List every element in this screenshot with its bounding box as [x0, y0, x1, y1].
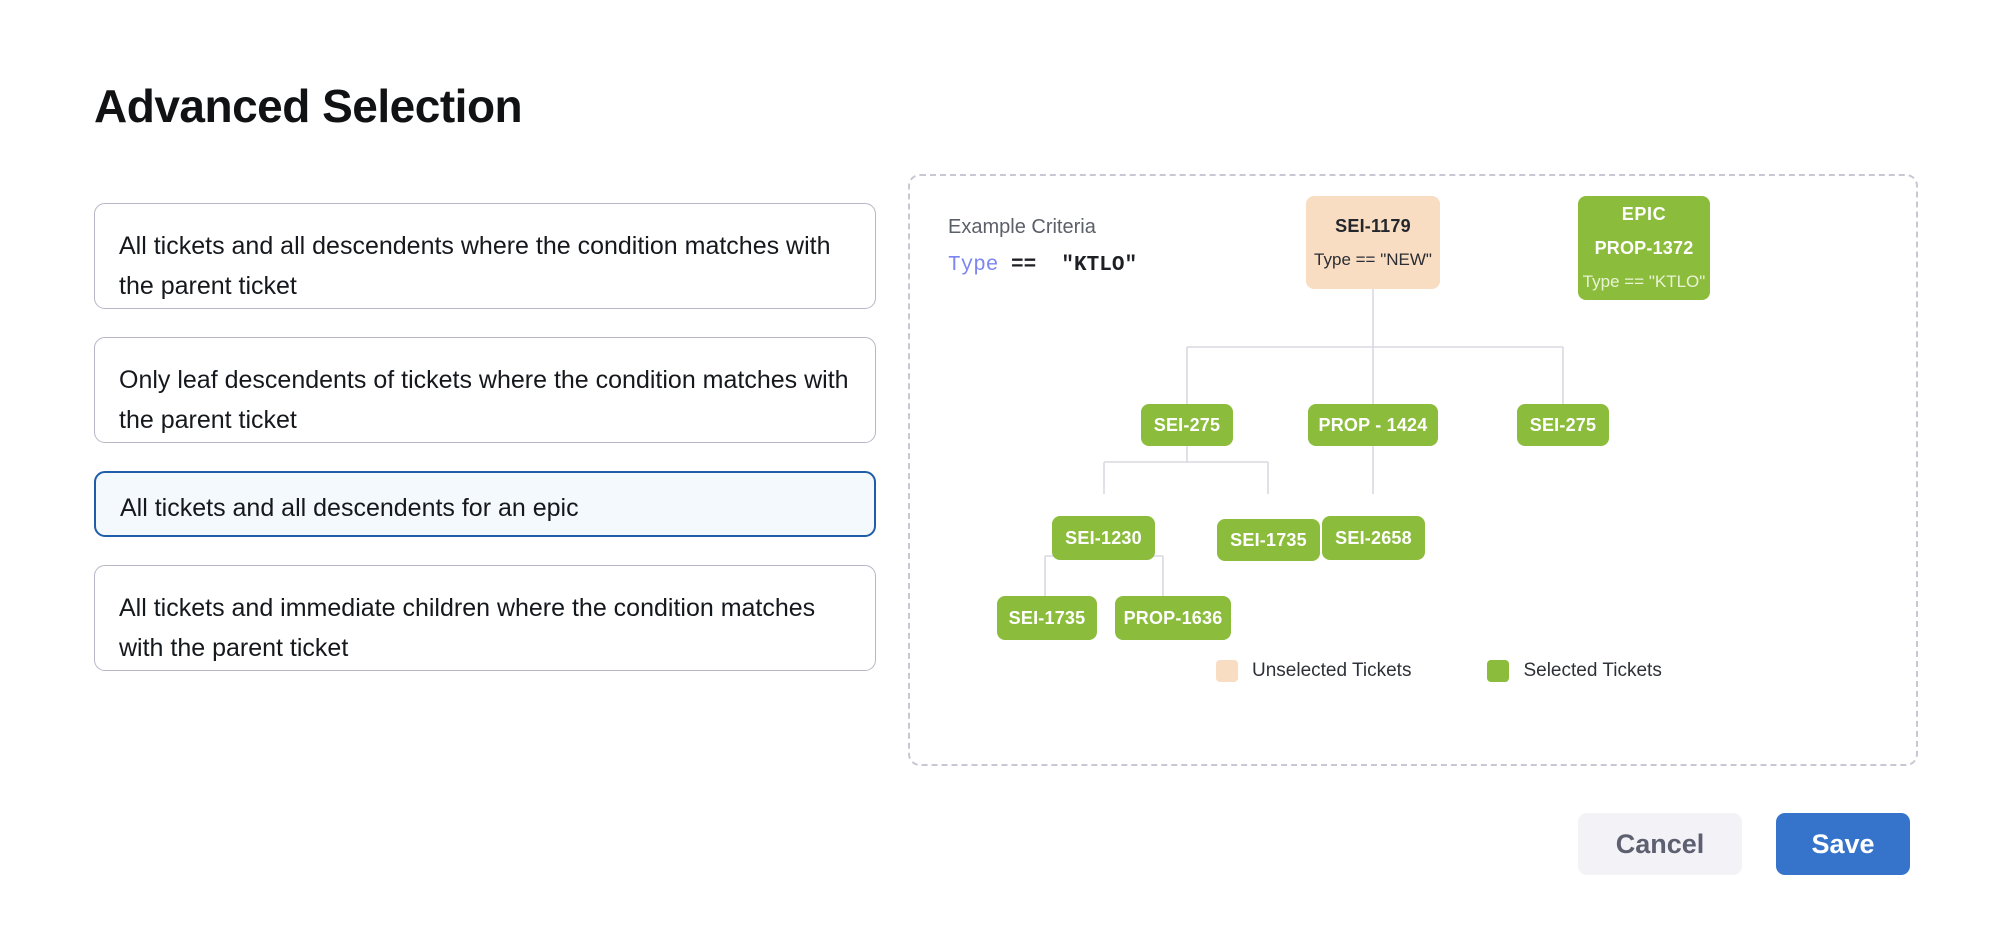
legend-swatch-unselected-icon	[1216, 660, 1238, 682]
node-key: SEI-275	[1530, 415, 1596, 436]
tree-node-epic-prop-1372[interactable]: EPIC PROP-1372 Type == "KTLO"	[1578, 196, 1710, 300]
option-card-leaf-descendents-condition[interactable]: Only leaf descendents of tickets where t…	[94, 337, 876, 443]
legend-label: Unselected Tickets	[1252, 660, 1411, 682]
node-key: SEI-1735	[1009, 608, 1086, 629]
selection-options-list: All tickets and all descendents where th…	[94, 203, 876, 671]
node-key: SEI-1735	[1230, 530, 1307, 551]
node-condition: Type == "NEW"	[1314, 250, 1432, 270]
tree-node-root-sei-1179[interactable]: SEI-1179 Type == "NEW"	[1306, 196, 1440, 289]
option-label: All tickets and all descendents where th…	[119, 226, 851, 306]
node-key: PROP-1636	[1124, 608, 1223, 629]
node-key: SEI-1179	[1335, 216, 1411, 237]
tree-node-sei-275-right[interactable]: SEI-275	[1517, 404, 1609, 446]
node-condition: Type == "KTLO"	[1583, 272, 1706, 292]
tree-node-prop-1424[interactable]: PROP - 1424	[1308, 404, 1438, 446]
example-diagram-panel: Example Criteria Type == "KTLO"	[908, 174, 1918, 766]
node-key: PROP - 1424	[1319, 415, 1428, 436]
legend-swatch-selected-icon	[1487, 660, 1509, 682]
tree-node-prop-1636[interactable]: PROP-1636	[1115, 596, 1231, 640]
option-card-immediate-children-condition[interactable]: All tickets and immediate children where…	[94, 565, 876, 671]
save-button[interactable]: Save	[1776, 813, 1910, 875]
node-key: SEI-275	[1154, 415, 1220, 436]
option-card-all-descendents-condition[interactable]: All tickets and all descendents where th…	[94, 203, 876, 309]
node-type-label: EPIC	[1622, 204, 1666, 225]
option-label: Only leaf descendents of tickets where t…	[119, 360, 851, 440]
option-label: All tickets and immediate children where…	[119, 588, 851, 668]
diagram-legend: Unselected Tickets Selected Tickets	[1216, 660, 1662, 682]
legend-label: Selected Tickets	[1523, 660, 1661, 682]
tree-node-sei-1230[interactable]: SEI-1230	[1052, 516, 1155, 560]
option-label: All tickets and all descendents for an e…	[120, 488, 850, 528]
legend-item-unselected: Unselected Tickets	[1216, 660, 1411, 682]
option-card-all-descendents-epic[interactable]: All tickets and all descendents for an e…	[94, 471, 876, 537]
tree-node-sei-1735-leaf[interactable]: SEI-1735	[997, 596, 1097, 640]
legend-item-selected: Selected Tickets	[1487, 660, 1661, 682]
node-key: PROP-1372	[1595, 238, 1694, 259]
dialog-footer: Cancel Save	[1578, 813, 1910, 875]
node-key: SEI-2658	[1335, 528, 1412, 549]
tree-node-sei-275-left[interactable]: SEI-275	[1141, 404, 1233, 446]
node-key: SEI-1230	[1065, 528, 1142, 549]
tree-node-sei-1735-mid[interactable]: SEI-1735	[1217, 519, 1320, 561]
cancel-button[interactable]: Cancel	[1578, 813, 1742, 875]
page-title: Advanced Selection	[94, 79, 522, 133]
tree-node-sei-2658[interactable]: SEI-2658	[1322, 516, 1425, 560]
